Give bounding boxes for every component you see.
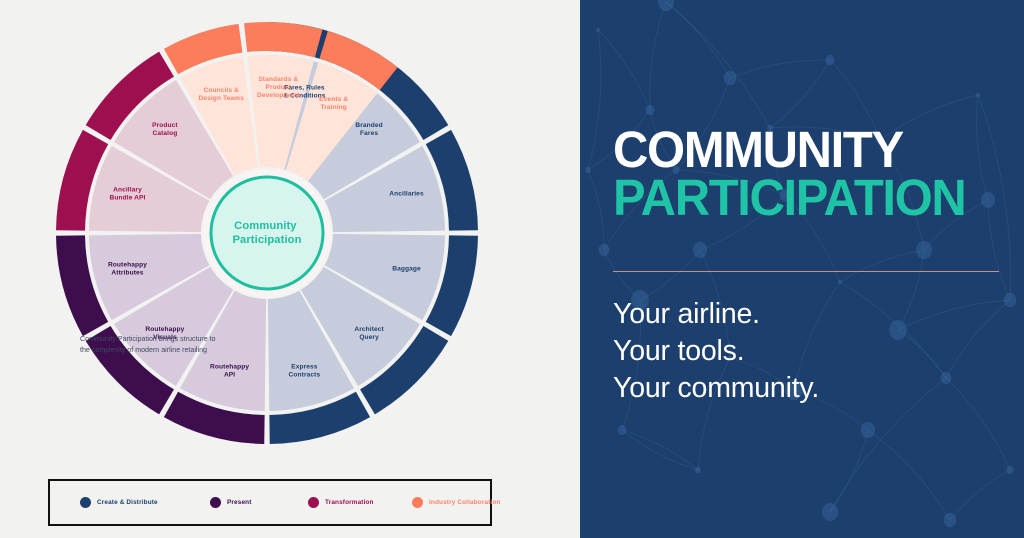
network-node [596, 28, 600, 33]
hero-title-line-2: PARTICIPATION [613, 174, 997, 222]
wheel-label-express-contracts: ExpressContracts [289, 363, 321, 378]
wheel-label-ancillary-bundle-api: AncillaryBundle API [110, 187, 146, 202]
hero-tagline-line-3: Your community. [613, 370, 1013, 407]
wheel-label-baggage: Baggage [392, 265, 421, 272]
hero-content: COMMUNITY PARTICIPATION Your airline.You… [613, 0, 1013, 538]
wheel-hub: Community Participation [203, 169, 331, 297]
wheel-panel: Fares, Rules& ConditionsBrandedFaresAnci… [0, 0, 580, 538]
legend-color-dot [308, 497, 319, 508]
wheel-label-routehappy-attributes: RoutehappyAttributes [108, 261, 147, 276]
legend-color-dot [80, 497, 91, 508]
wheel-label-events-training: Events &Training [319, 96, 348, 111]
legend-item-present[interactable]: Present [210, 497, 252, 508]
legend: Create & DistributePresentTransformation… [48, 479, 492, 526]
hero-divider [613, 271, 999, 272]
legend-item-create-distribute[interactable]: Create & Distribute [80, 497, 158, 508]
wheel-label-ancillaries: Ancillaries [389, 191, 424, 198]
community-participation-wheel: Fares, Rules& ConditionsBrandedFaresAnci… [0, 0, 580, 538]
network-link [588, 170, 604, 250]
wheel-label-product-catalog: ProductCatalog [152, 122, 178, 137]
hero-title-line-1: COMMUNITY [613, 126, 997, 174]
infographic-slide: Fares, Rules& ConditionsBrandedFaresAnci… [0, 0, 1024, 538]
hero-tagline-line-2: Your tools. [613, 333, 1013, 370]
hero-tagline-line-1: Your airline. [613, 296, 1013, 333]
network-node [599, 244, 610, 256]
legend-color-dot [210, 497, 221, 508]
legend-label: Transformation [325, 499, 374, 506]
legend-item-transformation[interactable]: Transformation [308, 497, 374, 508]
hero-title: COMMUNITY PARTICIPATION [613, 126, 1013, 222]
legend-label: Present [227, 499, 252, 506]
network-node [585, 167, 591, 174]
network-link [588, 30, 601, 170]
hub-circle [211, 177, 323, 289]
legend-item-industry-collaboration[interactable]: Industry Collaboration [412, 497, 500, 508]
hero-tagline: Your airline.Your tools.Your community. [613, 296, 1013, 407]
wheel-arc-standards-product-development[interactable] [244, 22, 322, 57]
legend-color-dot [412, 497, 423, 508]
hero-panel: COMMUNITY PARTICIPATION Your airline.You… [580, 0, 1024, 538]
legend-label: Create & Distribute [97, 499, 158, 506]
wheel-label-councils-design-teams: Councils &Design Teams [198, 87, 244, 102]
wheel-caption: Community Participation brings structure… [80, 334, 216, 357]
legend-label: Industry Collaboration [429, 499, 500, 506]
